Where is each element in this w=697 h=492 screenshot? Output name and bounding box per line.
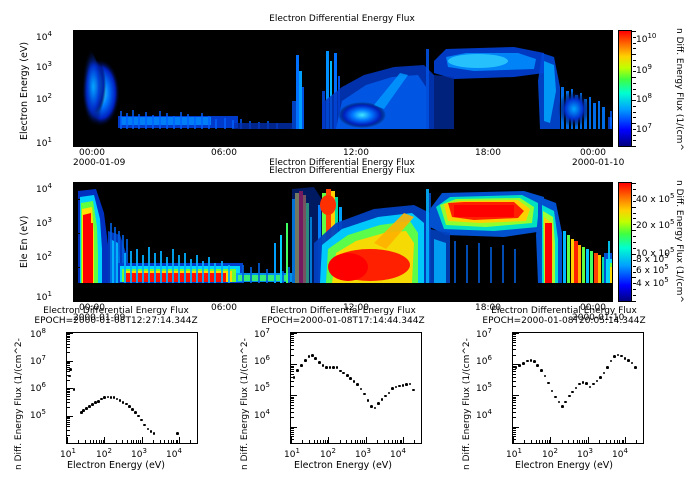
axis-tick <box>568 440 569 443</box>
spec2-cbar-tick-6: 6 x 105 <box>636 263 669 276</box>
axis-tick <box>74 281 77 282</box>
axis-tick <box>343 295 344 301</box>
axis-tick <box>67 365 70 366</box>
axis-tick <box>291 338 294 339</box>
axis-tick <box>186 298 187 301</box>
axis-tick <box>67 407 70 408</box>
axis-tick <box>231 143 232 146</box>
spectrum2-subtitle: EPOCH=2000-01-08T17:14:44.344Z <box>232 316 454 326</box>
spectrum3-plot-area[interactable] <box>512 332 644 444</box>
axis-tick <box>522 143 523 146</box>
axis-tick <box>74 189 77 190</box>
spec2-colorbar[interactable] <box>618 182 632 302</box>
axis-tick <box>74 87 77 88</box>
data-point <box>578 383 581 386</box>
axis-tick <box>325 440 326 443</box>
axis-tick <box>513 402 516 403</box>
data-point <box>137 415 140 418</box>
data-point <box>540 369 543 372</box>
spec1-colorbar-label: n Diff. Energy Flux (1/(cm^ <box>674 28 684 151</box>
axis-tick <box>599 440 600 443</box>
axis-tick <box>579 440 580 443</box>
axis-tick <box>74 235 77 236</box>
axis-tick <box>323 440 324 443</box>
axis-tick <box>67 375 70 376</box>
axis-tick <box>500 298 501 301</box>
axis-tick <box>291 443 294 444</box>
axis-tick <box>291 436 294 437</box>
axis-tick <box>67 347 70 348</box>
axis-tick <box>400 440 401 443</box>
axis-tick <box>74 83 77 84</box>
axis-tick <box>74 243 77 244</box>
axis-tick <box>513 398 516 399</box>
axis-tick <box>74 291 77 292</box>
axis-tick <box>74 47 80 48</box>
data-point <box>332 366 335 369</box>
colorbar-tick <box>633 189 636 190</box>
colorbar-tick <box>631 207 636 208</box>
data-point <box>356 383 359 386</box>
axis-tick <box>253 143 254 146</box>
data-point <box>346 374 349 377</box>
axis-tick <box>291 400 294 401</box>
data-point <box>336 366 339 369</box>
axis-tick <box>584 440 585 443</box>
axis-tick <box>74 223 77 224</box>
axis-tick <box>513 400 516 401</box>
axis-tick <box>562 440 563 443</box>
axis-tick <box>513 345 516 346</box>
axis-tick <box>433 143 434 146</box>
data-point <box>116 398 119 401</box>
axis-tick <box>74 116 77 117</box>
colorbar-tick <box>633 242 636 243</box>
axis-tick <box>388 143 389 146</box>
axis-tick <box>197 440 198 443</box>
axis-tick <box>67 435 70 436</box>
axis-tick <box>96 298 97 301</box>
colorbar-tick <box>633 140 636 141</box>
spectrum3-ytick-6: 106 <box>476 354 492 367</box>
axis-tick <box>164 298 165 301</box>
axis-tick <box>357 440 358 443</box>
axis-tick <box>104 437 105 443</box>
data-point <box>631 362 634 365</box>
spectrum2-ytick-6: 106 <box>254 354 270 367</box>
axis-tick <box>291 334 294 335</box>
axis-tick <box>321 143 322 146</box>
axis-tick <box>291 398 294 399</box>
axis-tick <box>67 443 73 444</box>
axis-tick <box>67 333 73 334</box>
data-point <box>377 402 380 405</box>
data-point <box>592 383 595 386</box>
axis-tick <box>74 113 80 114</box>
axis-tick <box>610 440 611 443</box>
spec2-ytick-3: 103 <box>36 216 52 229</box>
axis-tick <box>619 440 620 443</box>
axis-tick <box>513 364 519 365</box>
axis-tick <box>531 440 532 443</box>
data-point <box>374 407 377 410</box>
axis-tick <box>478 140 479 146</box>
axis-tick <box>131 440 132 443</box>
data-point <box>131 408 134 411</box>
spectrum2-plot-area[interactable] <box>290 332 422 444</box>
axis-tick <box>141 298 142 301</box>
axis-tick <box>74 277 77 278</box>
axis-tick <box>414 440 415 443</box>
axis-tick <box>291 345 294 346</box>
axis-tick <box>346 440 347 443</box>
axis-tick <box>142 437 143 443</box>
data-point <box>585 382 588 385</box>
axis-tick <box>513 334 516 335</box>
axis-tick <box>74 201 77 202</box>
axis-tick <box>291 349 294 350</box>
axis-tick <box>74 70 77 71</box>
spectrum3-ytick-7: 107 <box>476 327 492 340</box>
spectrum1-xtick-3: 103 <box>131 447 147 460</box>
data-point <box>536 364 539 367</box>
axis-tick <box>291 336 294 337</box>
axis-tick <box>74 103 77 104</box>
axis-tick <box>67 388 73 389</box>
axis-tick <box>513 436 516 437</box>
axis-tick <box>74 97 77 98</box>
spectrum2-ylabel: n Diff. Energy Flux (1/(cm^2- <box>240 338 250 470</box>
data-point <box>624 357 627 360</box>
axis-tick <box>513 408 516 409</box>
axis-tick <box>513 367 516 368</box>
axis-tick <box>67 402 70 403</box>
spec1-xtick-4: 00:00 <box>580 148 606 158</box>
axis-tick <box>291 367 294 368</box>
spectrum2-title: Electron Differential Energy Flux <box>232 306 454 316</box>
axis-tick <box>78 440 79 443</box>
axis-tick <box>366 437 367 443</box>
colorbar-tick <box>633 213 636 214</box>
axis-tick <box>513 377 516 378</box>
data-point <box>360 388 363 391</box>
axis-tick <box>171 440 172 443</box>
axis-tick <box>67 399 70 400</box>
axis-tick <box>85 440 86 443</box>
spectrum1-xtick-2: 102 <box>96 447 112 460</box>
spec1-xtick-1: 06:00 <box>211 148 237 158</box>
data-point <box>596 380 599 383</box>
axis-tick <box>74 202 77 203</box>
data-point <box>339 370 342 373</box>
axis-tick <box>625 437 626 443</box>
axis-tick <box>291 371 294 372</box>
data-point <box>97 400 100 403</box>
data-point <box>544 375 547 378</box>
colorbar-tick <box>631 77 636 78</box>
axis-tick <box>606 440 607 443</box>
axis-tick <box>636 440 637 443</box>
axis-tick <box>276 298 277 301</box>
axis-tick <box>173 440 174 443</box>
axis-tick <box>365 143 366 146</box>
axis-tick <box>74 81 77 82</box>
spec2-cbar-tick-4: 4 x 105 <box>636 276 669 289</box>
axis-tick <box>74 236 77 237</box>
axis-tick <box>513 381 516 382</box>
data-point <box>381 398 384 401</box>
axis-tick <box>74 37 77 38</box>
axis-tick <box>138 440 139 443</box>
axis-tick <box>388 440 389 443</box>
spectrum1-xtick-4: 104 <box>166 447 182 460</box>
spec2-plot-area[interactable] <box>73 182 613 302</box>
axis-tick <box>513 340 516 341</box>
data-point <box>558 401 561 404</box>
spectrum2-ytick-4: 104 <box>254 408 270 421</box>
axis-tick <box>291 342 294 343</box>
axis-tick <box>513 397 516 398</box>
axis-tick <box>67 416 73 417</box>
colorbar-tick <box>633 295 636 296</box>
axis-tick <box>74 123 77 124</box>
spectrum1-ylabel: n Diff. Energy Flux (1/(cm^2- <box>14 338 24 470</box>
data-point <box>342 372 345 375</box>
axis-tick <box>74 60 77 61</box>
data-point <box>606 366 609 369</box>
spectrum2-xlabel: Electron Energy (eV) <box>232 460 454 471</box>
spectrum3-xtick-2: 102 <box>542 447 558 460</box>
axis-tick <box>74 146 80 147</box>
axis-tick <box>231 298 232 301</box>
spec2-ytick-4: 104 <box>36 182 52 195</box>
data-point <box>405 383 408 386</box>
axis-tick <box>513 333 519 334</box>
spectrum3-xtick-1: 101 <box>506 447 522 460</box>
axis-tick <box>74 199 80 200</box>
data-point <box>547 382 550 385</box>
axis-tick <box>67 396 70 397</box>
axis-tick <box>122 440 123 443</box>
axis-tick <box>74 114 77 115</box>
axis-tick <box>320 440 321 443</box>
axis-tick <box>643 440 644 443</box>
spec1-image <box>74 31 612 146</box>
axis-tick <box>67 380 70 381</box>
axis-tick <box>74 48 77 49</box>
axis-tick <box>74 31 77 32</box>
axis-tick <box>421 440 422 443</box>
data-point <box>153 432 156 435</box>
axis-tick <box>478 295 479 301</box>
spectrum1-ytick-6: 106 <box>30 381 46 394</box>
data-point <box>353 380 356 383</box>
axis-tick <box>291 417 294 418</box>
axis-tick <box>74 217 77 218</box>
data-point <box>634 366 637 369</box>
axis-tick <box>96 440 97 443</box>
spec1-ytick-4: 104 <box>36 30 52 43</box>
colorbar-tick <box>633 112 636 113</box>
axis-tick <box>67 430 70 431</box>
axis-tick <box>179 437 180 443</box>
axis-tick <box>74 54 77 55</box>
data-point <box>304 359 307 362</box>
axis-tick <box>291 395 297 396</box>
axis-tick <box>190 440 191 443</box>
axis-tick <box>74 57 77 58</box>
axis-tick <box>513 427 519 428</box>
data-point <box>150 430 153 433</box>
axis-tick <box>164 440 165 443</box>
spec1-colorbar[interactable] <box>618 30 632 147</box>
axis-tick <box>74 52 77 53</box>
spectrum1-ytick-7: 107 <box>30 354 46 367</box>
axis-tick <box>74 285 77 286</box>
spectrum2-ytick-5: 105 <box>254 381 270 394</box>
data-point <box>329 366 332 369</box>
spec1-cbar-tick-8: 108 <box>636 92 652 105</box>
spec1-ylabel: Electron Energy (eV) <box>19 42 30 140</box>
spectrum2-xtick-4: 104 <box>390 447 406 460</box>
spec2-ylabel: Ele En (eV) <box>19 216 30 268</box>
spec1-plot-area[interactable] <box>73 30 613 147</box>
axis-tick <box>74 120 77 121</box>
axis-tick <box>67 392 70 393</box>
axis-tick <box>513 439 516 440</box>
data-point <box>613 355 616 358</box>
spec1-cbar-tick-7: 107 <box>636 122 652 135</box>
axis-tick <box>291 340 294 341</box>
axis-tick <box>513 371 516 372</box>
axis-tick <box>67 422 70 423</box>
axis-tick <box>74 247 77 248</box>
data-point <box>589 386 592 389</box>
axis-tick <box>298 143 299 146</box>
axis-tick <box>67 417 70 418</box>
data-point <box>113 396 116 399</box>
axis-tick <box>513 412 516 413</box>
spectrum3-title: Electron Differential Energy Flux <box>454 306 674 316</box>
axis-tick <box>164 143 165 146</box>
spectrum2-ytick-7: 107 <box>254 327 270 340</box>
axis-tick <box>291 432 294 433</box>
data-point <box>627 359 630 362</box>
colorbar-tick <box>633 83 636 84</box>
spec1-xtick-0: 00:00 <box>79 148 105 158</box>
data-point <box>522 362 525 365</box>
axis-tick <box>403 437 404 443</box>
axis-tick <box>116 440 117 443</box>
axis-tick <box>567 143 568 146</box>
axis-tick <box>74 209 77 210</box>
colorbar-tick <box>631 54 636 55</box>
axis-tick <box>119 298 120 301</box>
axis-tick <box>291 364 297 365</box>
axis-tick <box>328 437 329 443</box>
axis-tick <box>74 90 77 91</box>
data-point <box>140 419 143 422</box>
axis-tick <box>365 298 366 301</box>
axis-tick <box>67 371 70 372</box>
data-point <box>363 393 366 396</box>
spec1-ytick-1: 101 <box>36 136 52 149</box>
axis-tick <box>302 440 303 443</box>
data-point <box>564 401 567 404</box>
data-point <box>603 372 606 375</box>
axis-tick <box>513 428 516 429</box>
axis-tick <box>513 434 516 435</box>
axis-tick <box>209 140 210 146</box>
data-point <box>176 432 179 435</box>
axis-tick <box>317 440 318 443</box>
spec2-cbar-tick-20: 20 x 105 <box>636 218 674 231</box>
data-point <box>143 424 146 427</box>
axis-tick <box>539 440 540 443</box>
data-point <box>409 383 412 386</box>
spectrum-panel-3: Electron Differential Energy Flux EPOCH=… <box>454 300 697 492</box>
data-point <box>599 376 602 379</box>
spec1-xtick-3: 18:00 <box>475 148 501 158</box>
axis-tick <box>513 443 516 444</box>
axis-tick <box>622 440 623 443</box>
data-point <box>533 360 536 363</box>
axis-tick <box>74 118 77 119</box>
axis-tick <box>314 440 315 443</box>
axis-tick <box>74 269 77 270</box>
data-point <box>91 403 94 406</box>
spectrum1-subtitle: EPOCH=2000-01-08T12:27:14.344Z <box>0 316 232 326</box>
axis-tick <box>513 405 516 406</box>
axis-tick <box>153 440 154 443</box>
data-point <box>318 361 321 364</box>
data-point <box>402 384 405 387</box>
axis-tick <box>96 143 97 146</box>
axis-tick <box>513 366 516 367</box>
axis-tick <box>395 440 396 443</box>
colorbar-tick <box>631 183 636 184</box>
axis-tick <box>74 183 77 184</box>
axis-tick <box>550 437 551 443</box>
data-point <box>575 387 578 390</box>
data-point <box>530 359 533 362</box>
axis-tick <box>67 336 70 337</box>
axis-tick <box>74 213 77 214</box>
spectrum1-plot-area[interactable] <box>66 332 198 444</box>
axis-tick <box>513 342 516 343</box>
spectrum2-xtick-3: 103 <box>355 447 371 460</box>
axis-tick <box>67 418 70 419</box>
axis-tick <box>67 352 70 353</box>
data-point <box>128 405 131 408</box>
axis-tick <box>67 389 70 390</box>
axis-tick <box>291 427 297 428</box>
colorbar-tick <box>633 48 636 49</box>
data-point <box>308 355 311 358</box>
axis-tick <box>513 338 516 339</box>
axis-tick <box>567 298 568 301</box>
axis-tick <box>524 440 525 443</box>
axis-tick <box>136 440 137 443</box>
axis-tick <box>545 298 546 301</box>
data-point <box>370 405 373 408</box>
axis-tick <box>291 402 294 403</box>
axis-tick <box>513 369 516 370</box>
axis-tick <box>176 440 177 443</box>
axis-tick <box>291 434 294 435</box>
axis-tick <box>291 386 294 387</box>
axis-tick <box>74 251 77 252</box>
